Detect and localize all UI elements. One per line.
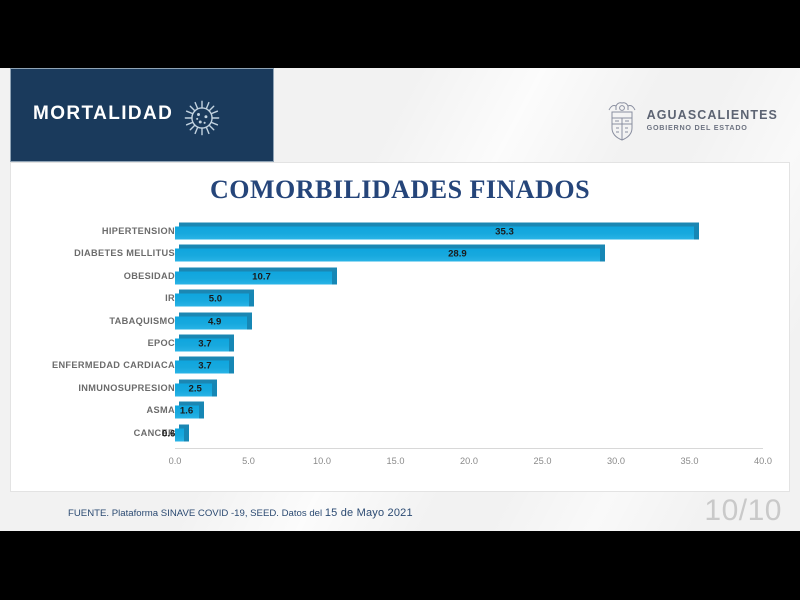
government-logo-text: AGUASCALIENTES GOBIERNO DEL ESTADO xyxy=(647,108,778,132)
category-label: HIPERTENSION xyxy=(0,226,175,236)
category-label: DIABETES MELLITUS xyxy=(0,248,175,258)
bar-side-face xyxy=(332,271,337,284)
bar-side-face xyxy=(199,406,204,419)
bar-side-face xyxy=(600,249,605,262)
bar-value-label: 0.6 xyxy=(162,428,175,439)
category-label: ENFERMEDAD CARDIACA xyxy=(0,360,175,370)
category-label: TABAQUISMO xyxy=(0,316,175,326)
bar-value-label: 2.5 xyxy=(189,383,202,394)
slide-viewport: MORTALIDAD xyxy=(0,0,800,600)
chart-title: COMORBILIDADES FINADOS xyxy=(11,175,789,205)
bar-value-label: 3.7 xyxy=(198,339,211,350)
bar-side-face xyxy=(212,383,217,396)
bar xyxy=(175,245,605,262)
coronavirus-icon xyxy=(181,97,223,139)
aguascalientes-coat-of-arms-icon xyxy=(606,98,638,142)
government-logo: AGUASCALIENTES GOBIERNO DEL ESTADO xyxy=(606,98,778,142)
x-axis-tick-label: 10.0 xyxy=(313,456,331,466)
category-label: OBESIDAD xyxy=(0,271,175,281)
bar xyxy=(175,424,189,441)
x-axis-line xyxy=(175,448,763,449)
bar-side-face xyxy=(229,361,234,374)
bar-side-face xyxy=(247,316,252,329)
source-note-prefix: FUENTE. Plataforma SINAVE COVID -19, SEE… xyxy=(68,508,325,519)
source-note: FUENTE. Plataforma SINAVE COVID -19, SEE… xyxy=(68,507,413,519)
x-axis-tick-label: 5.0 xyxy=(242,456,255,466)
section-header-band: MORTALIDAD xyxy=(10,68,274,162)
x-axis-tick-label: 20.0 xyxy=(460,456,478,466)
presentation-slide: MORTALIDAD xyxy=(0,68,800,531)
bar-side-face xyxy=(229,339,234,352)
x-axis-tick-label: 35.0 xyxy=(681,456,699,466)
bar-value-label: 4.9 xyxy=(208,316,221,327)
x-axis-tick-label: 30.0 xyxy=(607,456,625,466)
bar-value-label: 3.7 xyxy=(198,361,211,372)
government-subtitle: GOBIERNO DEL ESTADO xyxy=(647,124,778,132)
bar-side-face xyxy=(184,428,189,441)
bar xyxy=(175,223,699,240)
bar-front-face xyxy=(175,428,184,441)
x-axis-tick-label: 25.0 xyxy=(534,456,552,466)
chart-card: COMORBILIDADES FINADOS HIPERTENSION35.3D… xyxy=(10,162,790,492)
x-axis-tick-label: 0.0 xyxy=(169,456,182,466)
category-label: INMUNOSUPRESION xyxy=(0,383,175,393)
bar-value-label: 10.7 xyxy=(252,271,271,282)
bar-value-label: 5.0 xyxy=(209,294,222,305)
x-axis-tick-label: 15.0 xyxy=(387,456,405,466)
category-label: ASMA xyxy=(0,405,175,415)
category-label: IR xyxy=(0,293,175,303)
x-axis-tick-label: 40.0 xyxy=(754,456,772,466)
category-label: CANCER xyxy=(0,428,175,438)
government-name: AGUASCALIENTES xyxy=(647,108,778,122)
bar-side-face xyxy=(249,294,254,307)
bar-front-face xyxy=(175,227,694,240)
bar-value-label: 35.3 xyxy=(495,227,514,238)
page-title: MORTALIDAD xyxy=(33,103,173,125)
bar-side-face xyxy=(694,227,699,240)
bar-front-face xyxy=(175,249,600,262)
bar-value-label: 1.6 xyxy=(180,406,193,417)
page-indicator: 10/10 xyxy=(704,494,782,528)
bar-chart-plot: HIPERTENSION35.3DIABETES MELLITUS28.9OBE… xyxy=(11,217,791,467)
source-note-date: 15 de Mayo 2021 xyxy=(325,507,413,519)
category-label: EPOC xyxy=(0,338,175,348)
bar-value-label: 28.9 xyxy=(448,249,467,260)
